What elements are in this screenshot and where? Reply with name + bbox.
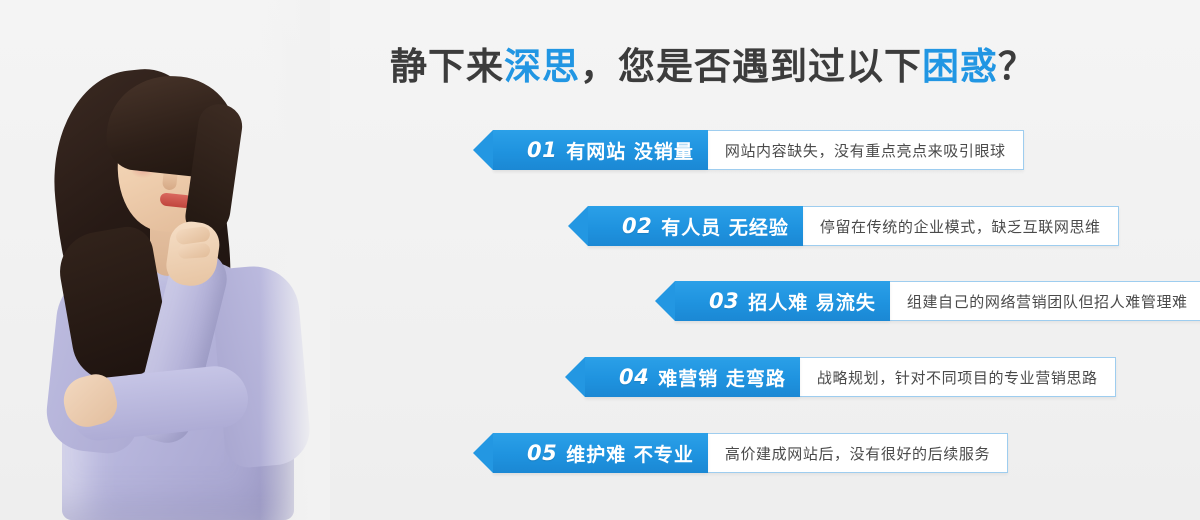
pain-point-tag[interactable]: 04 难营销 走弯路 xyxy=(585,357,800,397)
pain-point-title: 有网站 没销量 xyxy=(566,137,694,164)
pain-point-description: 组建自己的网络营销团队但招人难管理难 xyxy=(890,281,1200,321)
pain-point-number: 03 xyxy=(709,289,739,313)
photo-fade-overlay xyxy=(260,0,330,520)
pain-point-row[interactable]: 05 维护难 不专业 高价建成网站后，没有很好的后续服务 xyxy=(493,433,1008,473)
portrait-photo xyxy=(0,0,330,520)
pain-point-number: 02 xyxy=(622,214,652,238)
page-title: 静下来深思，您是否遇到过以下困惑？ xyxy=(390,40,1090,94)
pain-point-tag[interactable]: 05 维护难 不专业 xyxy=(493,433,708,473)
pain-point-description: 网站内容缺失，没有重点亮点来吸引眼球 xyxy=(708,130,1024,170)
pain-point-row[interactable]: 02 有人员 无经验 停留在传统的企业模式，缺乏互联网思维 xyxy=(588,206,1119,246)
title-part-one: 静下来 xyxy=(390,45,504,88)
pain-point-description: 停留在传统的企业模式，缺乏互联网思维 xyxy=(803,206,1119,246)
pain-point-title: 难营销 走弯路 xyxy=(658,364,786,391)
pain-point-title: 维护难 不专业 xyxy=(566,440,694,467)
pain-point-title: 招人难 易流失 xyxy=(748,288,876,315)
pain-point-description: 战略规划，针对不同项目的专业营销思路 xyxy=(800,357,1116,397)
pain-point-number: 01 xyxy=(527,138,557,162)
chin-finger-two-shape xyxy=(178,243,211,259)
title-highlight-two: 困惑 xyxy=(922,45,998,88)
title-part-two: ，您是否遇到过以下 xyxy=(580,45,922,88)
pain-point-number: 05 xyxy=(527,441,557,465)
title-highlight-one: 深思 xyxy=(504,45,580,88)
title-part-three: ？ xyxy=(998,45,1036,88)
pain-point-row[interactable]: 01 有网站 没销量 网站内容缺失，没有重点亮点来吸引眼球 xyxy=(493,130,1024,170)
pain-point-tag[interactable]: 03 招人难 易流失 xyxy=(675,281,890,321)
pain-point-title: 有人员 无经验 xyxy=(661,213,789,240)
pain-point-row[interactable]: 03 招人难 易流失 组建自己的网络营销团队但招人难管理难 xyxy=(675,281,1200,321)
pain-point-description: 高价建成网站后，没有很好的后续服务 xyxy=(708,433,1008,473)
pain-point-tag[interactable]: 02 有人员 无经验 xyxy=(588,206,803,246)
pain-point-row[interactable]: 04 难营销 走弯路 战略规划，针对不同项目的专业营销思路 xyxy=(585,357,1116,397)
pain-point-tag[interactable]: 01 有网站 没销量 xyxy=(493,130,708,170)
promo-banner: 静下来深思，您是否遇到过以下困惑？ 01 有网站 没销量 网站内容缺失，没有重点… xyxy=(0,0,1200,520)
pain-point-number: 04 xyxy=(619,365,649,389)
